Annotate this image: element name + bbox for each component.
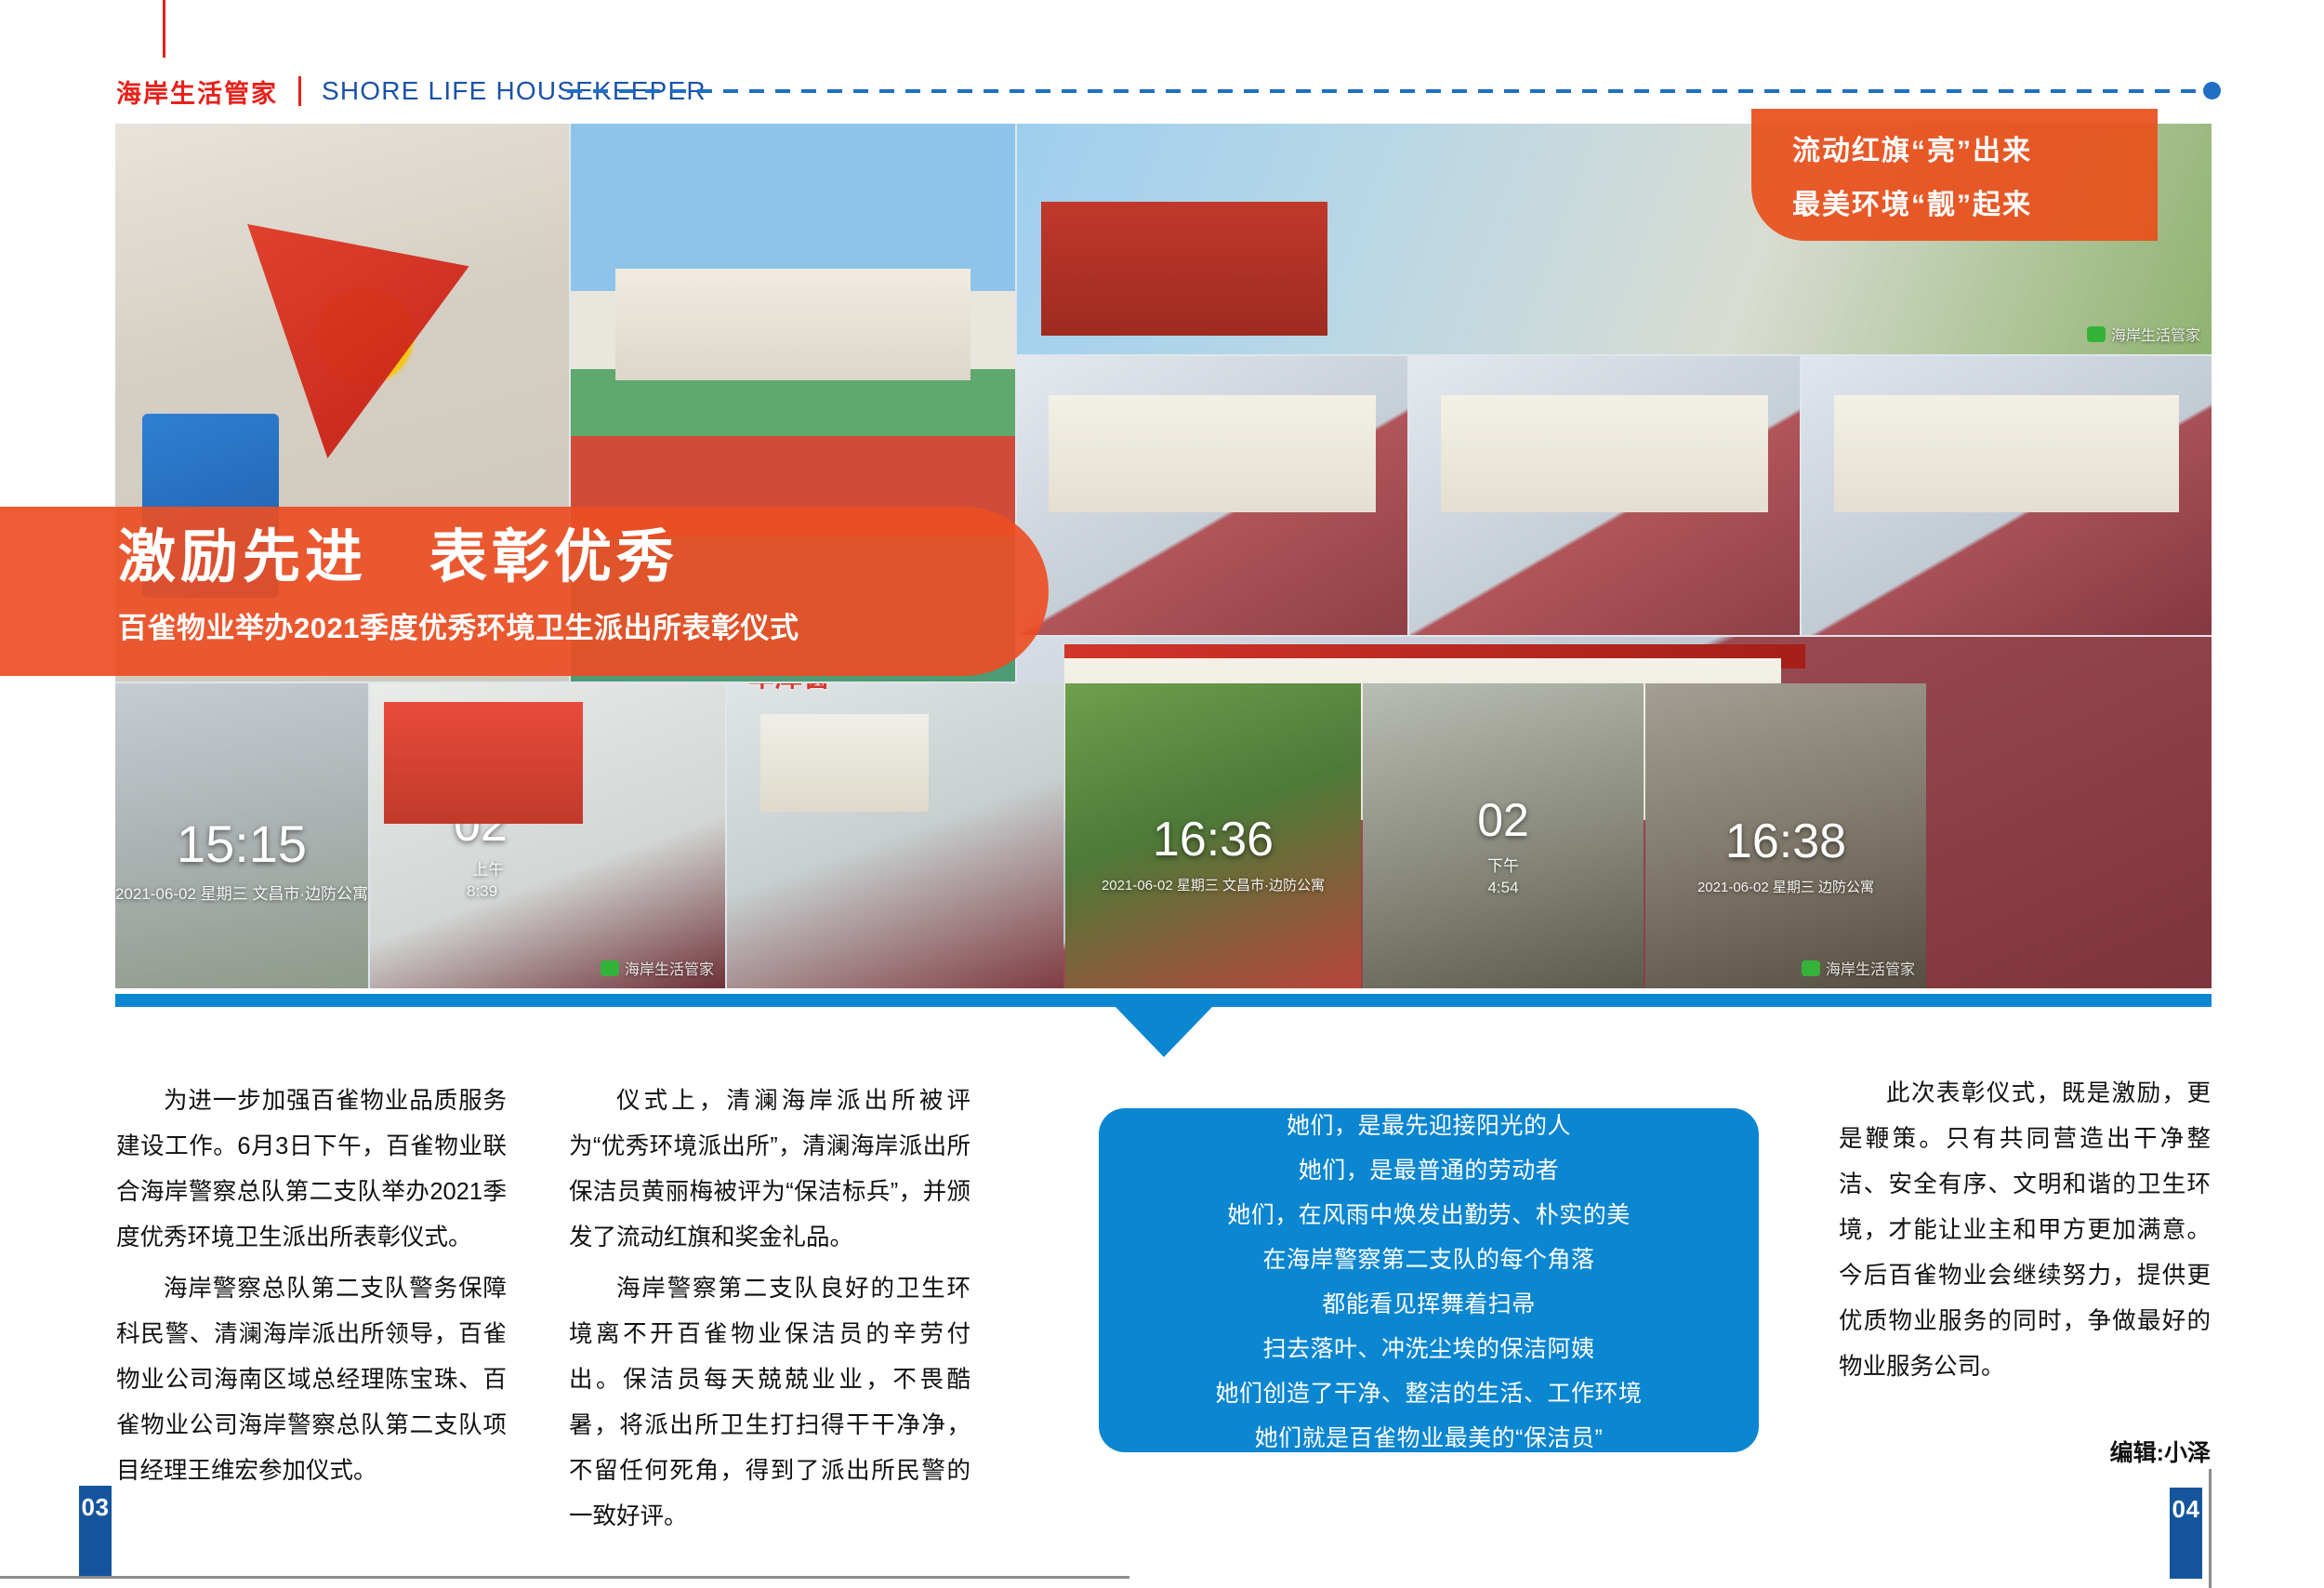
slogan-line-2: 最美环境“靓”起来 <box>1792 181 2158 222</box>
poem-line: 她们，是最普通的劳动者 <box>1299 1152 1560 1185</box>
poem-callout-box: 她们，是最先迎接阳光的人 她们，是最普通的劳动者 她们，在风雨中焕发出勤劳、朴实… <box>1099 1108 1759 1452</box>
poem-line: 她们创造了干净、整洁的生活、工作环境 <box>1215 1375 1642 1409</box>
photo-window-cleaning: 车库窗 <box>727 683 1063 988</box>
brand-name-cn: 海岸生活管家 <box>116 73 278 110</box>
photo-timestamp: 02 <box>1477 793 1529 847</box>
photo-datestamp: 2021-06-02 星期三 文昌市·边防公寓 <box>1102 875 1325 894</box>
footer-rule-right <box>2209 1469 2212 1588</box>
page-number-left: 03 <box>79 1486 112 1577</box>
photo-timestamp: 16:36 <box>1153 812 1274 867</box>
photo-datestamp: 2021-06-02 星期三 文昌市·边防公寓 <box>115 880 368 904</box>
body-column-2: 仪式上，清澜海岸派出所被评为“优秀环境派出所”，清澜海岸派出所保洁员黄丽梅被评为… <box>569 1079 971 1540</box>
photo-timestamp: 02 <box>454 797 508 853</box>
photo-sweeping-leaves: 16:38 2021-06-02 星期三 边防公寓 海岸生活管家 <box>1645 683 1926 988</box>
paragraph: 此次表彰仪式，既是激励，更是鞭策。只有共同营造出干净整洁、安全有序、文明和谐的卫… <box>1839 1071 2211 1390</box>
photo-notice-board: 02 上午 8:39 海岸生活管家 <box>370 683 725 988</box>
section-divider-bar <box>115 994 2212 1007</box>
poem-line: 她们，在风雨中焕发出勤劳、朴实的美 <box>1227 1197 1631 1230</box>
paragraph: 海岸警察第二支队良好的卫生环境离不开百雀物业保洁员的辛劳付出。保洁员每天兢兢业业… <box>569 1266 971 1540</box>
article-title-banner: 激励先进 表彰优秀 百雀物业举办2021季度优秀环境卫生派出所表彰仪式 <box>0 507 1049 676</box>
body-column-3: 此次表彰仪式，既是激励，更是鞭策。只有共同营造出干净整洁、安全有序、文明和谐的卫… <box>1839 1071 2211 1390</box>
masthead-end-dot <box>2203 82 2221 99</box>
footer-rule-left <box>0 1576 1129 1579</box>
poem-line: 她们就是百雀物业最美的“保洁员” <box>1255 1420 1604 1453</box>
article-title: 激励先进 表彰优秀 <box>118 523 1049 591</box>
wechat-icon <box>2087 326 2106 342</box>
poem-line: 扫去落叶、冲洗尘埃的保洁阿姨 <box>1262 1330 1594 1364</box>
photo-watermark: 海岸生活管家 <box>2087 323 2200 345</box>
photo-watermark: 海岸生活管家 <box>1802 957 1915 979</box>
paragraph: 为进一步加强百雀物业品质服务建设工作。6月3日下午，百雀物业联合海岸警察总队第二… <box>116 1079 507 1261</box>
photo-clock: 4:54 <box>1487 879 1518 897</box>
masthead-divider <box>298 76 301 106</box>
slogan-badge: 流动红旗“亮”出来 最美环境“靓”起来 <box>1751 109 2158 241</box>
photo-watermark: 海岸生活管家 <box>601 957 714 979</box>
photo-timestamp: 16:38 <box>1725 814 1846 869</box>
body-column-1: 为进一步加强百雀物业品质服务建设工作。6月3日下午，百雀物业联合海岸警察总队第二… <box>116 1079 507 1494</box>
photo-ceremony-2 <box>1409 356 1800 635</box>
poem-line: 她们，是最先迎接阳光的人 <box>1287 1107 1571 1141</box>
photo-ceremony-1 <box>1017 356 1407 635</box>
top-red-rule <box>163 0 165 58</box>
photo-clock: 8:39 <box>467 882 497 901</box>
photo-ampm: 下午 <box>1487 853 1519 876</box>
wechat-icon <box>601 960 619 976</box>
photo-watering-flowers: 16:36 2021-06-02 星期三 文昌市·边防公寓 <box>1065 683 1361 988</box>
poem-line: 在海岸警察第二支队的每个角落 <box>1262 1241 1594 1275</box>
paragraph: 海岸警察总队第二支队警务保障科民警、清澜海岸派出所领导，百雀物业公司海南区域总经… <box>116 1266 507 1494</box>
garage-sign-text: 车库窗 <box>747 683 831 695</box>
masthead-dashed-rule <box>567 89 2203 93</box>
photo-stage-banner <box>1064 644 1805 668</box>
photo-drain-cleaning: 02 下午 4:54 <box>1363 683 1644 988</box>
wechat-icon <box>1802 960 1820 976</box>
article-subtitle: 百雀物业举办2021季度优秀环境卫生派出所表彰仪式 <box>118 604 1049 646</box>
page-number-right: 04 <box>2170 1488 2202 1579</box>
editor-credit: 编辑:小泽 <box>2110 1435 2211 1468</box>
magazine-spread: 海岸生活管家 SHORE LIFE HOUSEKEEPER 海岸生活管家 15:… <box>0 0 2324 1588</box>
paragraph: 仪式上，清澜海岸派出所被评为“优秀环境派出所”，清澜海岸派出所保洁员黄丽梅被评为… <box>569 1079 971 1261</box>
photo-ampm: 上午 <box>472 856 504 880</box>
slogan-line-1: 流动红旗“亮”出来 <box>1792 127 2158 168</box>
poem-line: 都能看见挥舞着扫帚 <box>1322 1286 1536 1319</box>
section-divider-arrow-icon <box>1116 1007 1212 1057</box>
photo-ceremony-3 <box>1802 356 2212 635</box>
photo-timestamp: 15:15 <box>177 814 307 874</box>
photo-sweeping-ground: 15:15 2021-06-02 星期三 文昌市·边防公寓 <box>115 683 368 988</box>
photo-datestamp: 2021-06-02 星期三 边防公寓 <box>1697 877 1874 896</box>
